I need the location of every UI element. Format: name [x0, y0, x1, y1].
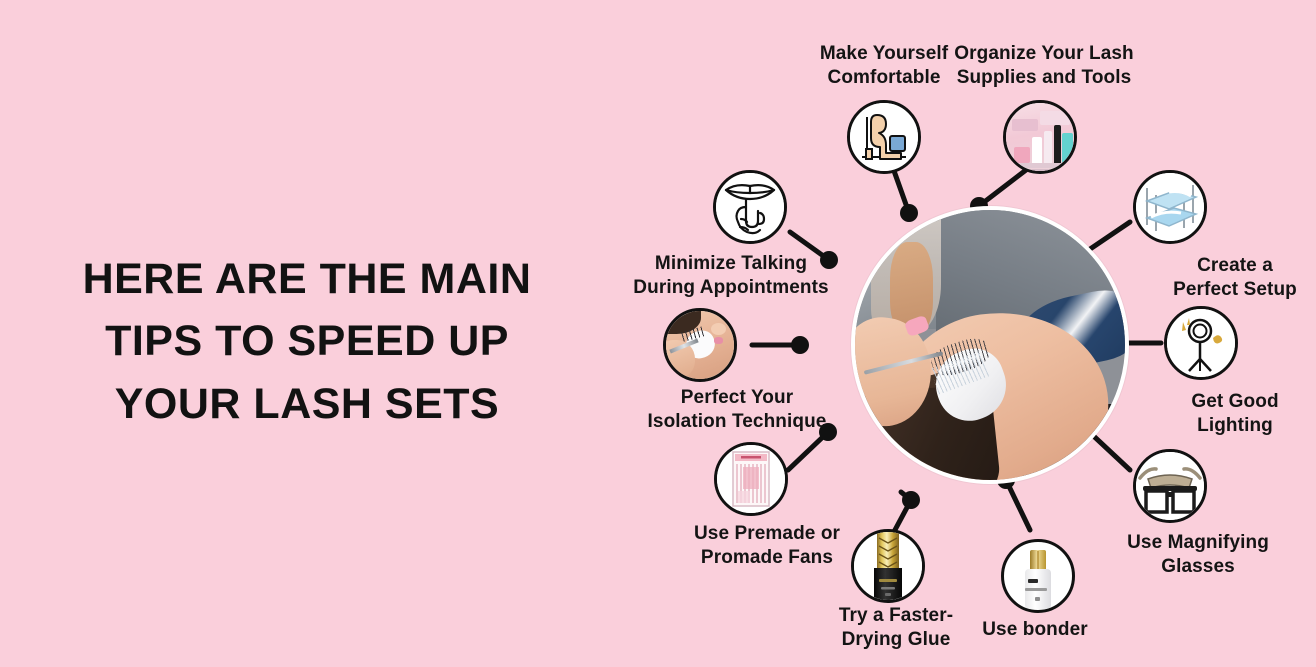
connector-dot: [791, 336, 809, 354]
infographic-canvas: HERE ARE THE MAIN TIPS TO SPEED UP YOUR …: [0, 0, 1316, 667]
tip-label-perfect-your-isolation-technique: Perfect Your Isolation Technique: [608, 386, 866, 434]
page-title: HERE ARE THE MAIN TIPS TO SPEED UP YOUR …: [42, 248, 572, 435]
ring-light-icon: [1167, 309, 1235, 377]
tip-icon-use-premade-or-promade-fans[interactable]: [714, 442, 788, 516]
tip-label-minimize-talking-during-appointments: Minimize Talking During Appointments: [600, 252, 862, 300]
tip-icon-perfect-your-isolation-technique[interactable]: [663, 308, 737, 382]
magnifying-glasses-icon: [1136, 452, 1204, 520]
tip-icon-get-good-lighting[interactable]: [1164, 306, 1238, 380]
premade-fan-tray-icon: [717, 445, 785, 513]
tip-icon-use-magnifying-glasses[interactable]: [1133, 449, 1207, 523]
connector-dot: [902, 491, 920, 509]
center-photo: [851, 206, 1129, 484]
tip-label-use-magnifying-glasses: Use Magnifying Glasses: [1086, 531, 1310, 579]
shush-finger-over-lips-icon: [716, 173, 784, 241]
tip-icon-organize-your-lash-supplies-and-tools[interactable]: [1003, 100, 1077, 174]
tip-label-create-a-perfect-setup: Create a Perfect Setup: [1150, 254, 1316, 302]
tip-label-organize-your-lash-supplies-and-tools: Organize Your Lash Supplies and Tools: [925, 42, 1163, 90]
seated-person-icon: [850, 103, 918, 171]
tip-label-try-a-faster-drying-glue: Try a Faster- Drying Glue: [796, 604, 996, 652]
tip-icon-make-yourself-comfortable[interactable]: [847, 100, 921, 174]
headline-line-1: HERE ARE THE MAIN: [42, 248, 572, 310]
tip-label-use-premade-or-promade-fans: Use Premade or Promade Fans: [650, 522, 884, 570]
tip-icon-create-a-perfect-setup[interactable]: [1133, 170, 1207, 244]
tip-icon-minimize-talking-during-appointments[interactable]: [713, 170, 787, 244]
tip-label-get-good-lighting: Get Good Lighting: [1150, 390, 1316, 438]
bonder-label-marks: [1004, 542, 1072, 610]
headline-line-2: TIPS TO SPEED UP: [42, 310, 572, 372]
tip-icon-use-bonder[interactable]: [1001, 539, 1075, 613]
lash-bed-icon: [1136, 173, 1204, 241]
headline-line-3: YOUR LASH SETS: [42, 373, 572, 435]
